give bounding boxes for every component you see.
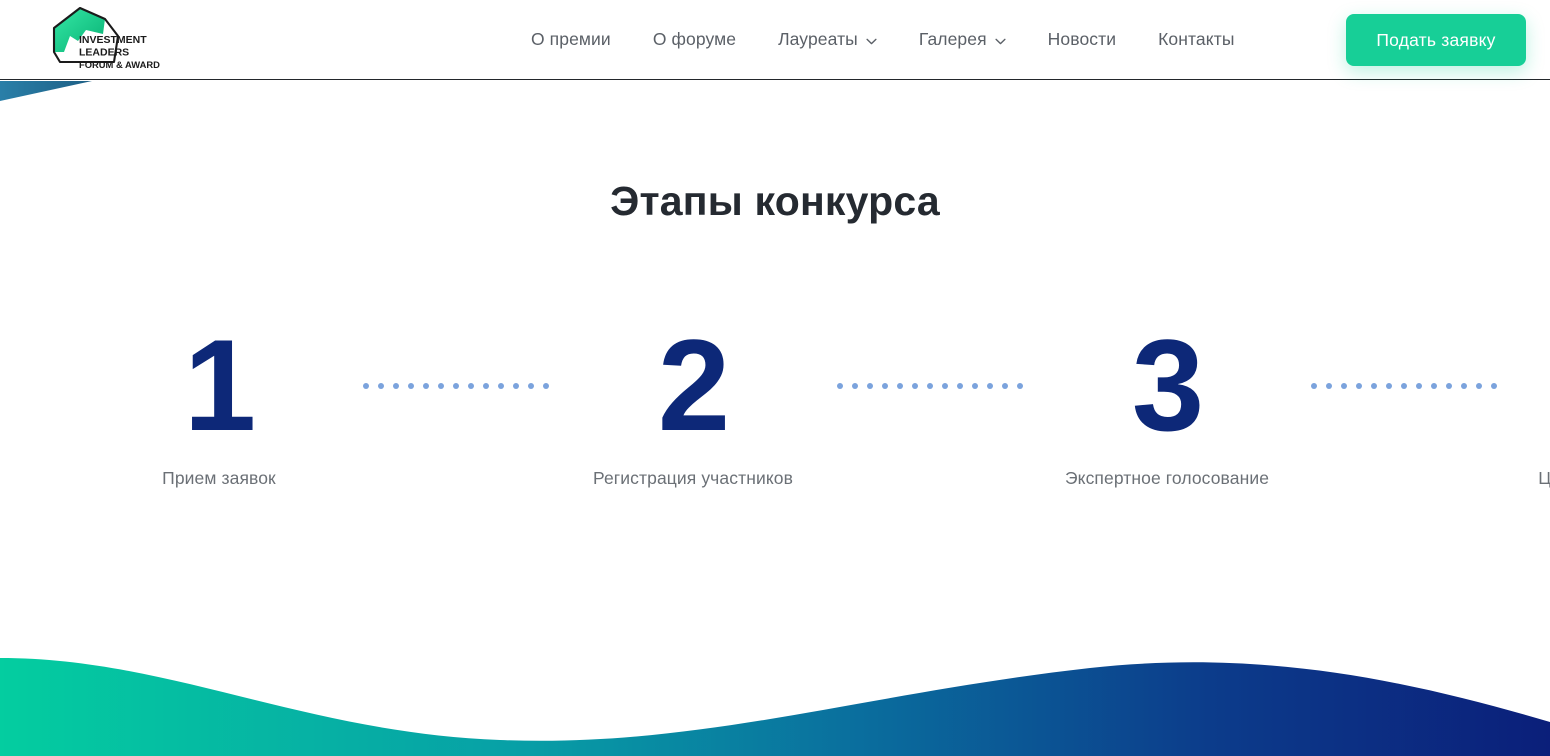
dotted-line [1311,383,1498,390]
nav-label: Новости [1048,31,1116,49]
nav-item-galereya[interactable]: Галерея [898,31,1027,49]
nav-label: Контакты [1158,31,1234,49]
dotted-line [363,383,550,390]
mountain-pentagon-logo-icon: INVESTMENT LEADERS FORUM & AWARD [48,6,168,74]
site-header: INVESTMENT LEADERS FORUM & AWARD О преми… [0,0,1550,80]
nav-item-laureaty[interactable]: Лауреаты [757,31,898,49]
stage-label: Регистрация участников [549,468,837,489]
nav-item-novosti[interactable]: Новости [1027,31,1137,49]
site-logo[interactable]: INVESTMENT LEADERS FORUM & AWARD [48,6,168,74]
stage-label: Прием заявок [75,468,363,489]
stage-item-1: 1 Прием заявок [75,330,363,489]
page-root: INVESTMENT LEADERS FORUM & AWARD О преми… [0,0,1550,756]
stage-connector-3-4 [1311,330,1497,442]
chevron-down-icon [995,38,1006,45]
nav-item-o-premii[interactable]: О премии [510,31,632,49]
page-title: Этапы конкурса [0,178,1550,225]
stage-item-3: 3 Экспертное голосование [1023,330,1311,489]
stages-list: 1 Прием заявок 2 Регистрация участников … [75,330,1475,500]
nav-label: О премии [531,31,611,49]
nav-label: Лауреаты [778,31,858,49]
stage-number: 1 [75,330,363,442]
logo-line3: FORUM & AWARD [79,59,160,70]
stage-number: 3 [1023,330,1311,442]
dotted-line [837,383,1024,390]
stage-number: 4 [1497,330,1550,442]
stage-label: Экспертное голосование [1023,468,1311,489]
nav-label: Галерея [919,31,987,49]
stage-connector-2-3 [837,330,1023,442]
stage-connector-1-2 [363,330,549,442]
logo-line2: LEADERS [79,47,129,59]
top-left-wedge-decoration [0,81,300,103]
bottom-wave-decoration [0,636,1550,756]
stage-label: Церемония награждения [1497,468,1550,489]
stage-item-4: 4 Церемония награждения [1497,330,1550,489]
nav-item-o-forume[interactable]: О форуме [632,31,757,49]
chevron-down-icon [866,38,877,45]
nav-item-kontakty[interactable]: Контакты [1137,31,1255,49]
nav-label: О форуме [653,31,736,49]
submit-application-button[interactable]: Подать заявку [1346,14,1526,66]
logo-line1: INVESTMENT [79,34,147,46]
main-navigation: О премии О форуме Лауреаты Галерея Новос… [510,0,1256,80]
stage-item-2: 2 Регистрация участников [549,330,837,489]
stage-number: 2 [549,330,837,442]
